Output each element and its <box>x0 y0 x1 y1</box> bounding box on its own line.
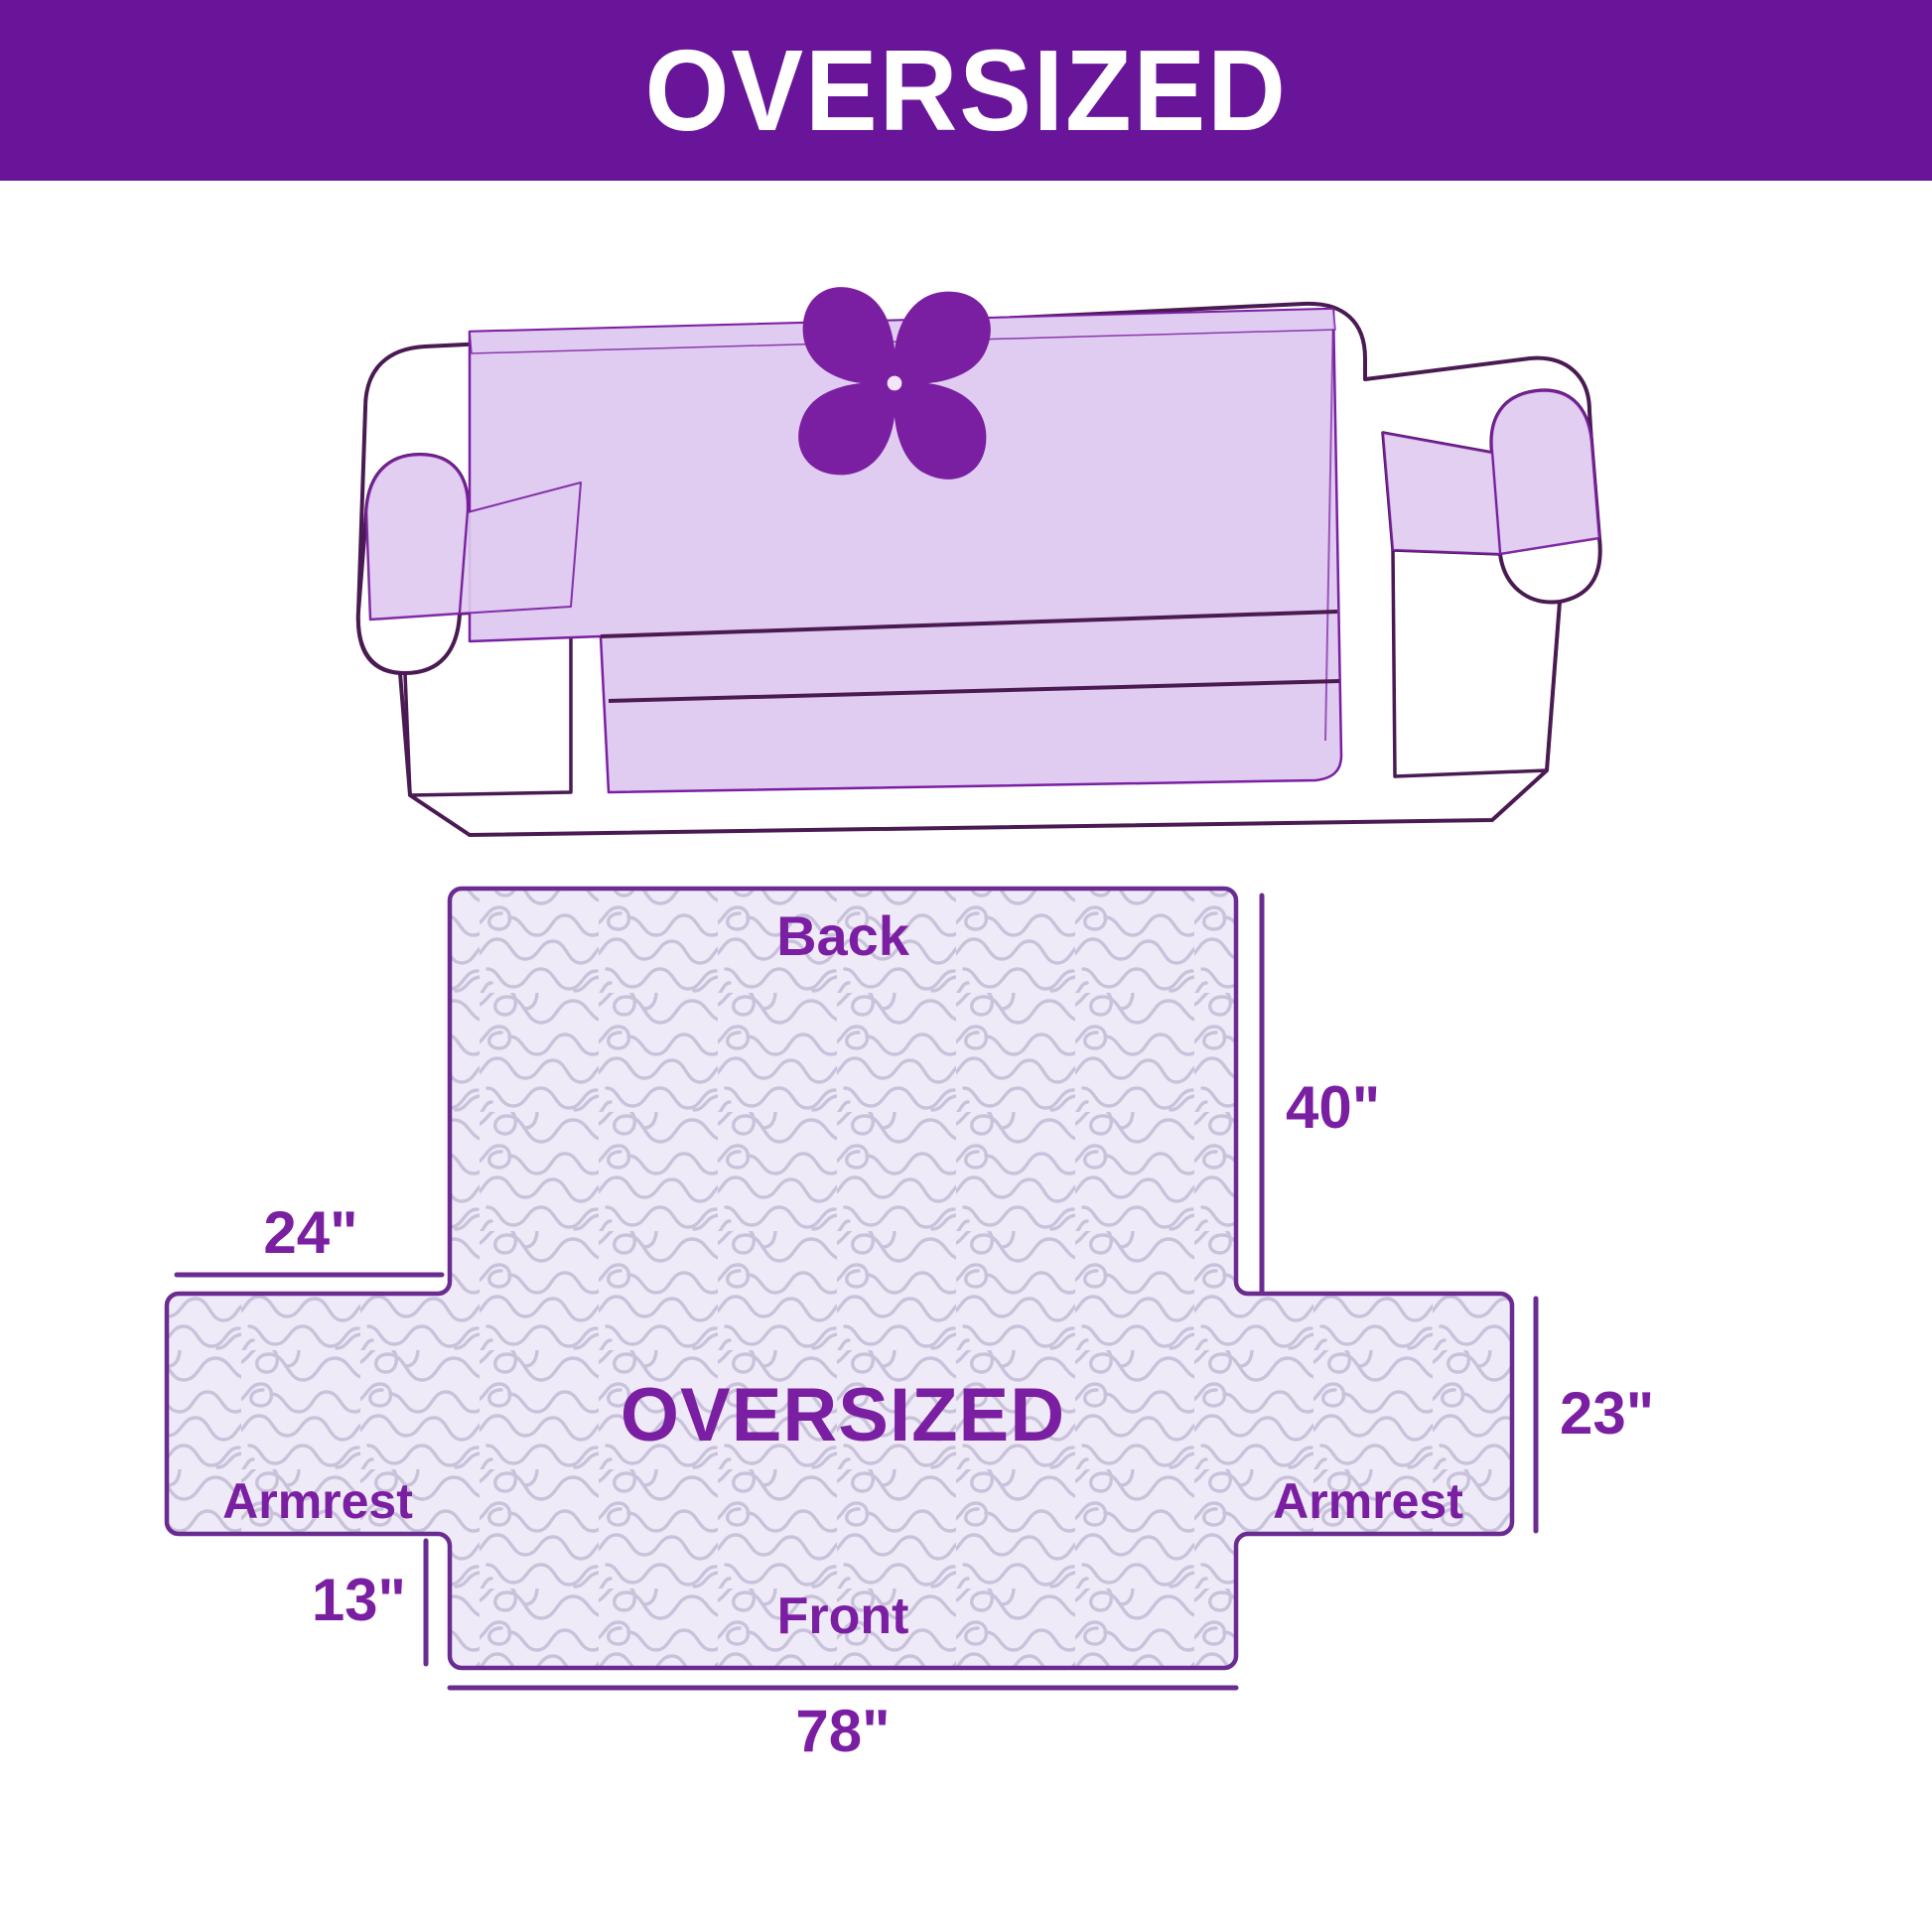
panel-label-front: Front <box>777 1587 909 1645</box>
dimension-value-24: 24" <box>263 1199 357 1266</box>
panel-label-back: Back <box>776 904 910 967</box>
dimension-back-left-offset: 24" <box>177 1199 442 1275</box>
panel-label-armrest-right: Armrest <box>1273 1473 1463 1529</box>
page-title: OVERSIZED <box>644 33 1287 148</box>
header-banner: OVERSIZED <box>0 0 1932 181</box>
slipcover-layout-diagram: Back OVERSIZED Armrest Armrest Front 40"… <box>0 874 1932 1932</box>
dimension-back-height: 40" <box>1262 896 1380 1291</box>
sofa-illustration <box>0 185 1932 860</box>
sofa-drawing-svg <box>311 185 1621 840</box>
dimension-value-78: 78" <box>795 1698 890 1764</box>
dimension-value-40: 40" <box>1286 1074 1380 1141</box>
dimension-value-23: 23" <box>1560 1380 1654 1447</box>
dimension-front-width: 78" <box>450 1688 1236 1764</box>
dimension-front-drop: 13" <box>312 1541 426 1664</box>
layout-svg: Back OVERSIZED Armrest Armrest Front 40"… <box>122 874 1810 1866</box>
cover-outline <box>167 889 1512 1668</box>
center-label-oversized: OVERSIZED <box>621 1373 1065 1457</box>
dimension-armrest-height: 23" <box>1536 1299 1654 1531</box>
panel-label-armrest-left: Armrest <box>222 1473 413 1529</box>
dimension-value-13: 13" <box>312 1567 406 1633</box>
